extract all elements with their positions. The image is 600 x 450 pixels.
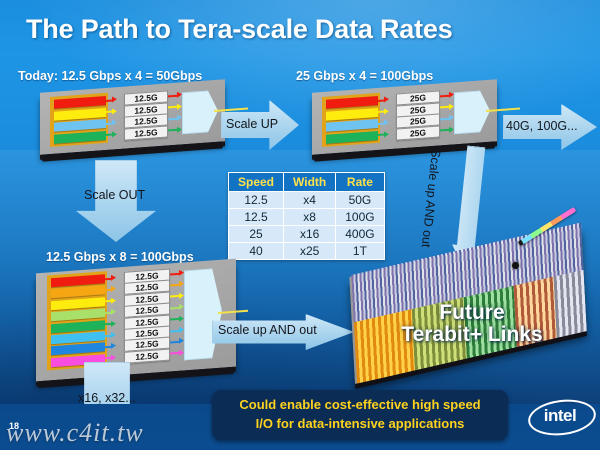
lane-arrowhead — [111, 343, 116, 349]
serdes-connector — [440, 129, 449, 132]
output-wire — [214, 108, 248, 112]
future-terabit-chip: Future Terabit+ Links — [346, 232, 598, 392]
table-column-header: Rate — [336, 173, 384, 192]
table-cell: 50G — [336, 192, 384, 209]
future-terabit-label: Future Terabit+ Links — [346, 302, 598, 346]
serdes-arrowhead — [177, 126, 182, 132]
callout-banner: Could enable cost-effective high speed I… — [212, 390, 508, 440]
lane-rate-tag: 12.5G — [124, 125, 168, 140]
table-header-row: SpeedWidthRate — [229, 173, 385, 192]
table-cell: x25 — [284, 243, 336, 260]
callout-line1: Could enable cost-effective high speed — [212, 396, 508, 415]
callout-line2: I/O for data-intensive applications — [212, 415, 508, 434]
lane-rate-tag: 12.5G — [124, 348, 170, 363]
lane-arrowhead — [384, 108, 389, 114]
serdes-connector — [168, 117, 177, 120]
serdes-arrowhead — [177, 91, 182, 97]
lane-arrowhead — [111, 320, 116, 326]
table-cell: 25 — [229, 226, 284, 243]
serdes-connector — [440, 117, 449, 120]
scale-up-arrow-label: Scale UP — [226, 117, 278, 131]
lane-rate-tag: 25G — [396, 125, 440, 140]
serdes-block — [182, 90, 218, 135]
serdes-arrowhead — [177, 114, 182, 120]
chip-today: 12.5G12.5G12.5G12.5G — [40, 86, 225, 148]
serdes-connector — [170, 341, 179, 344]
table-cell: x8 — [284, 209, 336, 226]
serdes-connector — [170, 307, 179, 310]
chip-8lane: 12.5G12.5G12.5G12.5G12.5G12.5G12.5G12.5G — [36, 266, 236, 374]
lane-arrowhead — [111, 354, 116, 360]
serdes-connector — [168, 129, 177, 132]
lane-arrowhead — [111, 297, 116, 303]
rates-out-arrow-label: 40G, 100G... — [506, 119, 578, 133]
lane-arrowhead — [112, 131, 117, 137]
serdes-connector — [170, 295, 179, 298]
table-cell: x4 — [284, 192, 336, 209]
lane-arrowhead — [384, 131, 389, 137]
serdes-arrowhead — [179, 349, 184, 355]
serdes-connector — [170, 329, 179, 332]
intel-logo-text: intel — [528, 406, 592, 426]
slide-canvas: The Path to Tera-scale Data Rates Today:… — [0, 0, 600, 450]
serdes-connector — [170, 318, 179, 321]
today-caption: Today: 12.5 Gbps x 4 = 50Gbps — [18, 69, 202, 83]
serdes-arrowhead — [449, 91, 454, 97]
widths-out-arrow-label: x16, x32... — [78, 391, 136, 405]
callout-banner-text: Could enable cost-effective high speed I… — [212, 396, 508, 434]
serdes-connector — [440, 106, 449, 109]
serdes-arrowhead — [449, 126, 454, 132]
serdes-arrowhead — [179, 281, 184, 287]
serdes-connector — [440, 94, 449, 97]
serdes-connector — [170, 352, 179, 355]
table-row: 12.5x8100G — [229, 209, 385, 226]
table-cell: 40 — [229, 243, 284, 260]
lane-arrowhead — [384, 96, 389, 102]
serdes-arrowhead — [449, 103, 454, 109]
table-column-header: Width — [284, 173, 336, 192]
serdes-arrowhead — [179, 269, 184, 275]
output-wire — [218, 310, 248, 314]
slide-title: The Path to Tera-scale Data Rates — [26, 14, 453, 45]
output-wire — [486, 108, 520, 112]
serdes-arrowhead — [179, 304, 184, 310]
scale-out-arrow-label: Scale OUT — [84, 188, 145, 202]
chip-25g: 25G25G25G25G — [312, 86, 497, 148]
chip-lanes: 12.5G12.5G12.5G12.5G12.5G12.5G12.5G12.5G — [36, 259, 236, 382]
serdes-connector — [170, 272, 179, 275]
fiber-connector-icon — [512, 262, 519, 269]
serdes-arrowhead — [449, 114, 454, 120]
serdes-arrowhead — [179, 292, 184, 298]
table-cell: 100G — [336, 209, 384, 226]
future-label-line1: Future — [346, 302, 598, 324]
page-number: 18 — [9, 421, 19, 431]
table-cell: 12.5 — [229, 192, 284, 209]
future-label-line2: Terabit+ Links — [346, 324, 598, 346]
scale-up-and-out-horizontal-label: Scale up AND out — [218, 323, 317, 337]
lane-arrowhead — [111, 286, 116, 292]
scale-out-caption: 12.5 Gbps x 8 = 100Gbps — [46, 250, 194, 264]
serdes-arrowhead — [179, 315, 184, 321]
serdes-connector — [170, 284, 179, 287]
table-cell: 12.5 — [229, 209, 284, 226]
scale-up-caption: 25 Gbps x 4 = 100Gbps — [296, 69, 433, 83]
serdes-connector — [168, 106, 177, 109]
lane-arrowhead — [112, 119, 117, 125]
serdes-block — [184, 268, 222, 361]
lane-arrowhead — [384, 119, 389, 125]
serdes-connector — [168, 94, 177, 97]
serdes-arrowhead — [179, 326, 184, 332]
intel-logo: intel — [528, 396, 592, 436]
lane-arrowhead — [111, 309, 116, 315]
serdes-arrowhead — [179, 338, 184, 344]
table-cell: x16 — [284, 226, 336, 243]
lane-arrowhead — [112, 96, 117, 102]
lane-arrowhead — [111, 331, 116, 337]
serdes-block — [454, 90, 490, 135]
table-row: 12.5x450G — [229, 192, 385, 209]
table-column-header: Speed — [229, 173, 284, 192]
lane-arrowhead — [112, 108, 117, 114]
lane-arrowhead — [111, 274, 116, 280]
watermark: www.c4it.tw — [6, 418, 236, 448]
serdes-arrowhead — [177, 103, 182, 109]
